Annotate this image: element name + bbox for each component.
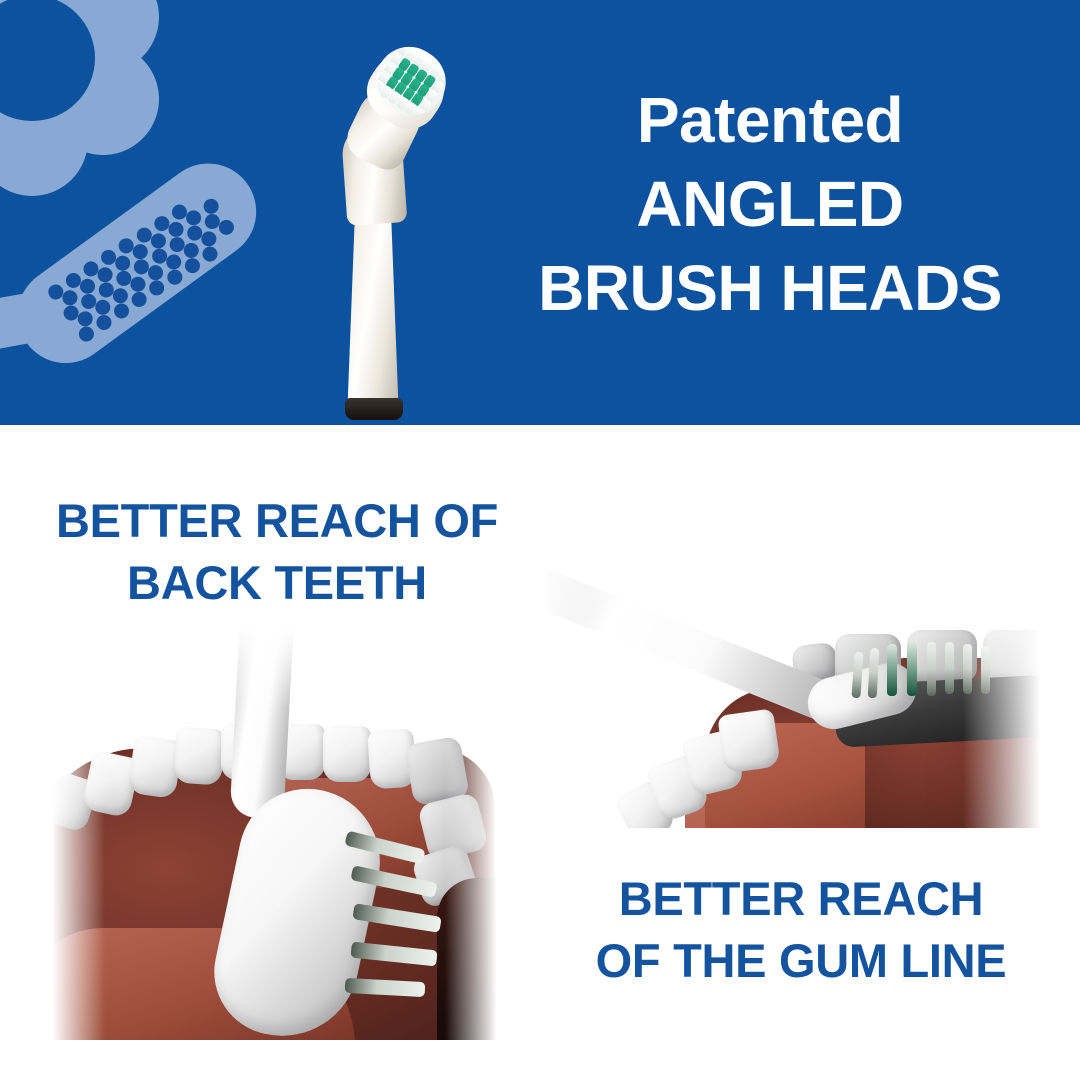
- headline-line-3: BRUSH HEADS: [520, 246, 1020, 330]
- caption-gum-line-line-1: BETTER REACH: [548, 868, 1054, 930]
- product-feature-graphic: Patented ANGLED BRUSH HEADS BETTER REACH…: [0, 0, 1080, 1080]
- headline-line-1: Patented: [520, 78, 1020, 162]
- headline-line-2: ANGLED: [520, 162, 1020, 246]
- headline: Patented ANGLED BRUSH HEADS: [520, 78, 1020, 330]
- angled-brush-head-photo: [300, 28, 490, 408]
- caption-back-teeth-line-1: BETTER REACH OF: [32, 490, 522, 552]
- feature-caption-gum-line: BETTER REACH OF THE GUM LINE: [548, 868, 1054, 992]
- gum-line-illustration: [535, 538, 1053, 828]
- caption-back-teeth-line-2: BACK TEETH: [32, 552, 522, 614]
- feature-caption-back-teeth: BETTER REACH OF BACK TEETH: [32, 490, 522, 614]
- hero-banner: Patented ANGLED BRUSH HEADS: [0, 0, 1080, 425]
- back-teeth-illustration: [45, 628, 505, 1040]
- caption-gum-line-line-2: OF THE GUM LINE: [548, 930, 1054, 992]
- flower-icon: [0, 0, 182, 208]
